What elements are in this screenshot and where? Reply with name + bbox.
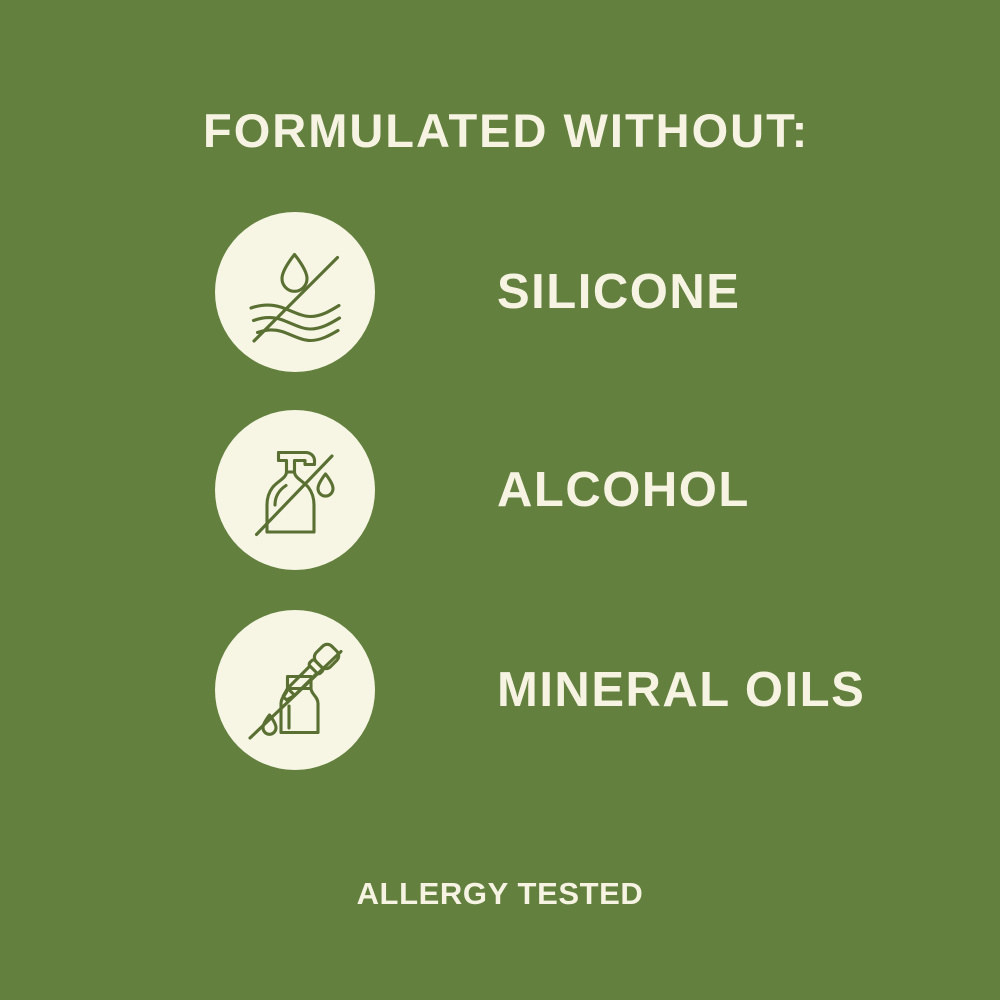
no-alcohol-icon xyxy=(215,410,375,570)
formulated-without-poster: FORMULATED WITHOUT: SILICONE xyxy=(0,0,1000,1000)
allergy-tested-text: ALLERGY TESTED xyxy=(0,875,1000,913)
list-item-silicone: SILICONE xyxy=(215,212,955,372)
no-mineral-oils-icon xyxy=(215,610,375,770)
list-item-label: MINERAL OILS xyxy=(497,666,865,715)
no-silicone-icon xyxy=(215,212,375,372)
list-item-alcohol: ALCOHOL xyxy=(215,410,955,570)
list-item-label: ALCOHOL xyxy=(497,466,750,515)
list-item-mineral-oils: MINERAL OILS xyxy=(215,610,955,770)
list-item-label: SILICONE xyxy=(497,268,740,317)
claims-list: SILICONE xyxy=(0,0,1000,1000)
